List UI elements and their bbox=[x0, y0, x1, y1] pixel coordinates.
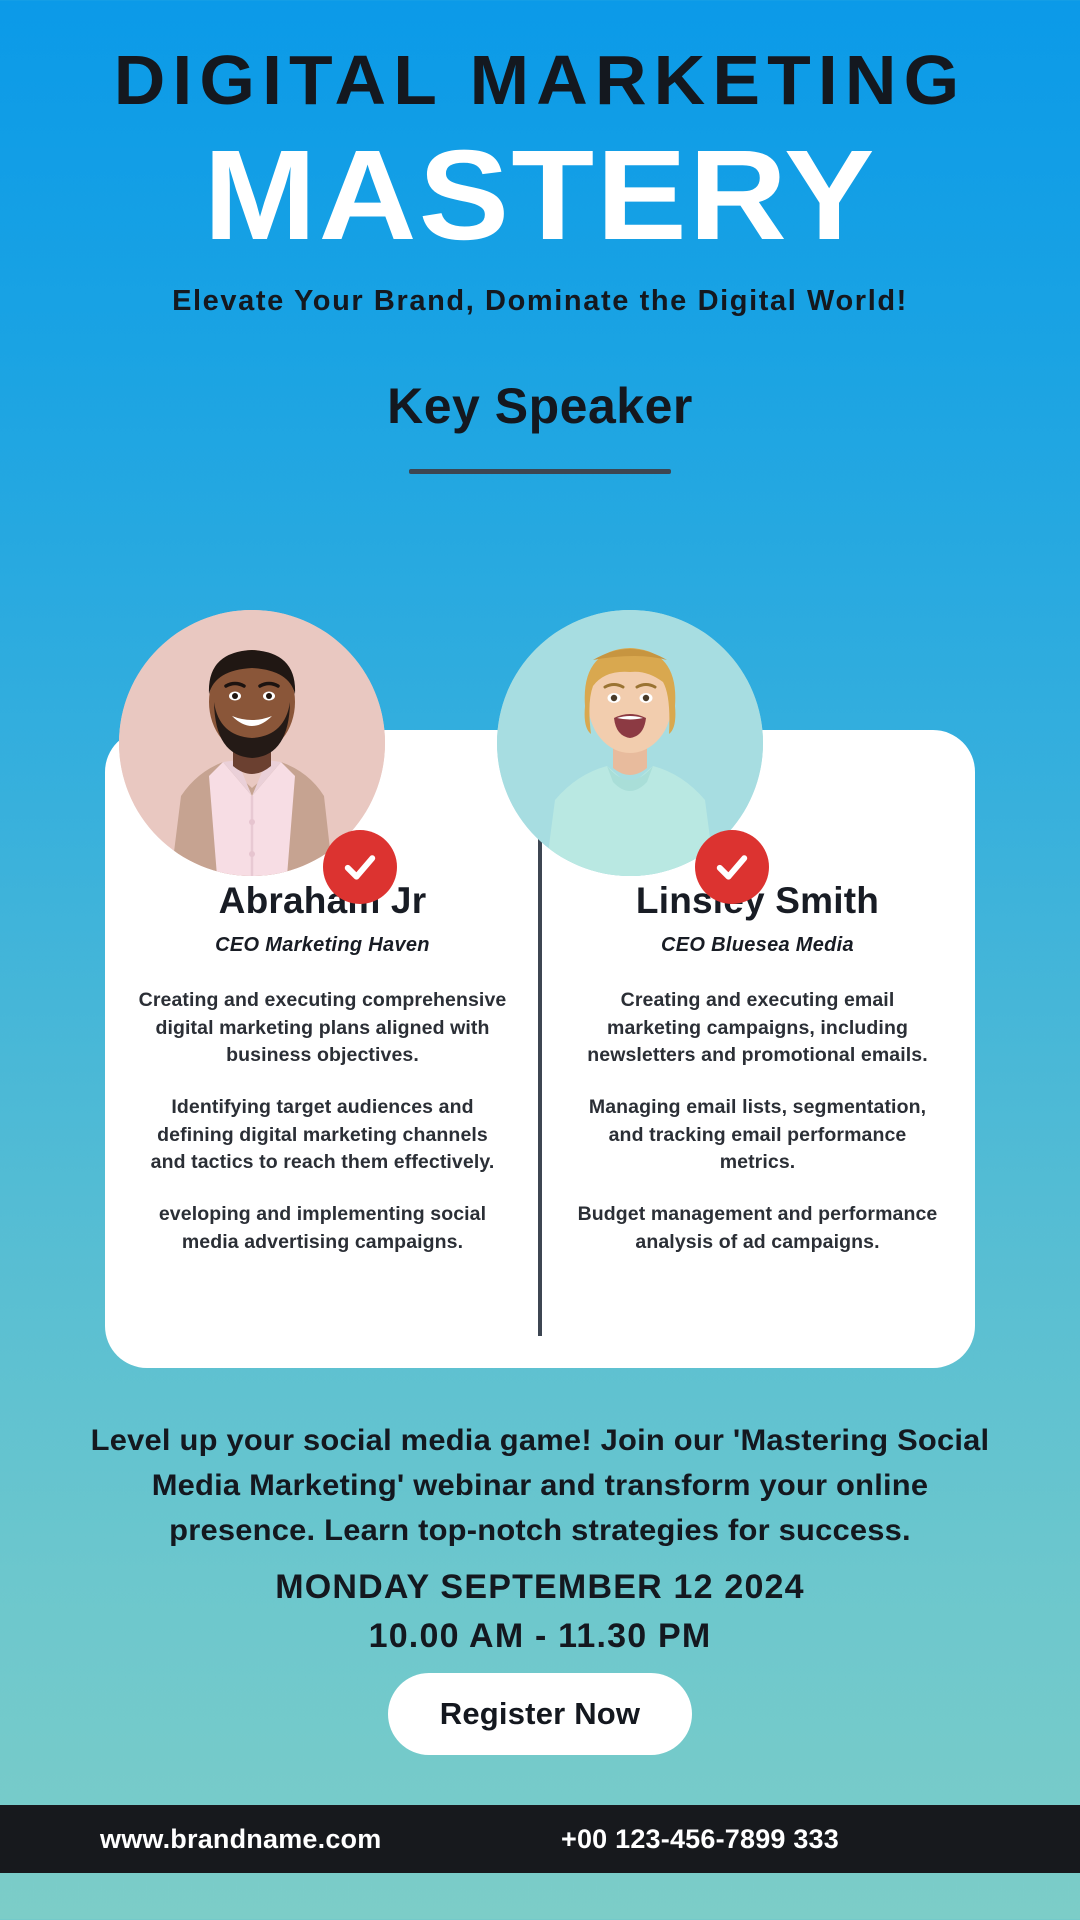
footer-phone[interactable]: +00 123-456-7899 333 bbox=[561, 1824, 839, 1855]
speaker-bullet: eveloping and implementing social media … bbox=[137, 1201, 508, 1256]
check-badge-icon-2 bbox=[695, 830, 769, 904]
hero-section: DIGITAL MARKETING MASTERY Elevate Your B… bbox=[0, 0, 1080, 321]
heading-divider bbox=[409, 469, 671, 474]
poster-title-main: DIGITAL MARKETING bbox=[0, 44, 1080, 118]
register-button-wrap: Register Now bbox=[0, 1673, 1080, 1755]
register-now-button[interactable]: Register Now bbox=[388, 1673, 693, 1755]
key-speaker-heading: Key Speaker bbox=[0, 377, 1080, 435]
speaker-bullets: Creating and executing comprehensive dig… bbox=[137, 987, 508, 1257]
check-icon bbox=[711, 846, 753, 888]
promo-paragraph: Level up your social media game! Join ou… bbox=[77, 1418, 1004, 1553]
footer-website[interactable]: www.brandname.com bbox=[100, 1824, 381, 1855]
poster-tagline: Elevate Your Brand, Dominate the Digital… bbox=[0, 282, 1080, 321]
speaker-role: CEO Marketing Haven bbox=[137, 934, 508, 957]
speaker-bullet: Creating and executing comprehensive dig… bbox=[137, 987, 508, 1070]
speaker-name: Abraham Jr bbox=[137, 880, 508, 922]
speaker-bullet: Creating and executing email marketing c… bbox=[572, 987, 943, 1070]
footer-bar: www.brandname.com +00 123-456-7899 333 bbox=[0, 1805, 1080, 1873]
poster-title-sub: MASTERY bbox=[0, 132, 1080, 260]
check-icon bbox=[339, 846, 381, 888]
speaker-bullet: Managing email lists, segmentation, and … bbox=[572, 1094, 943, 1177]
speaker-bullets: Creating and executing email marketing c… bbox=[572, 987, 943, 1257]
speaker-block-2: Linsley Smith CEO Bluesea Media Creating… bbox=[540, 880, 975, 1257]
speaker-bullet: Budget management and performance analys… bbox=[572, 1201, 943, 1256]
speaker-role: CEO Bluesea Media bbox=[572, 934, 943, 957]
speaker-bullet: Identifying target audiences and definin… bbox=[137, 1094, 508, 1177]
event-datetime: MONDAY SEPTEMBER 12 2024 10.00 AM - 11.3… bbox=[0, 1568, 1080, 1656]
check-badge-icon-1 bbox=[323, 830, 397, 904]
speaker-block-1: Abraham Jr CEO Marketing Haven Creating … bbox=[105, 880, 540, 1257]
event-time: 10.00 AM - 11.30 PM bbox=[0, 1617, 1080, 1656]
event-date: MONDAY SEPTEMBER 12 2024 bbox=[0, 1568, 1080, 1607]
